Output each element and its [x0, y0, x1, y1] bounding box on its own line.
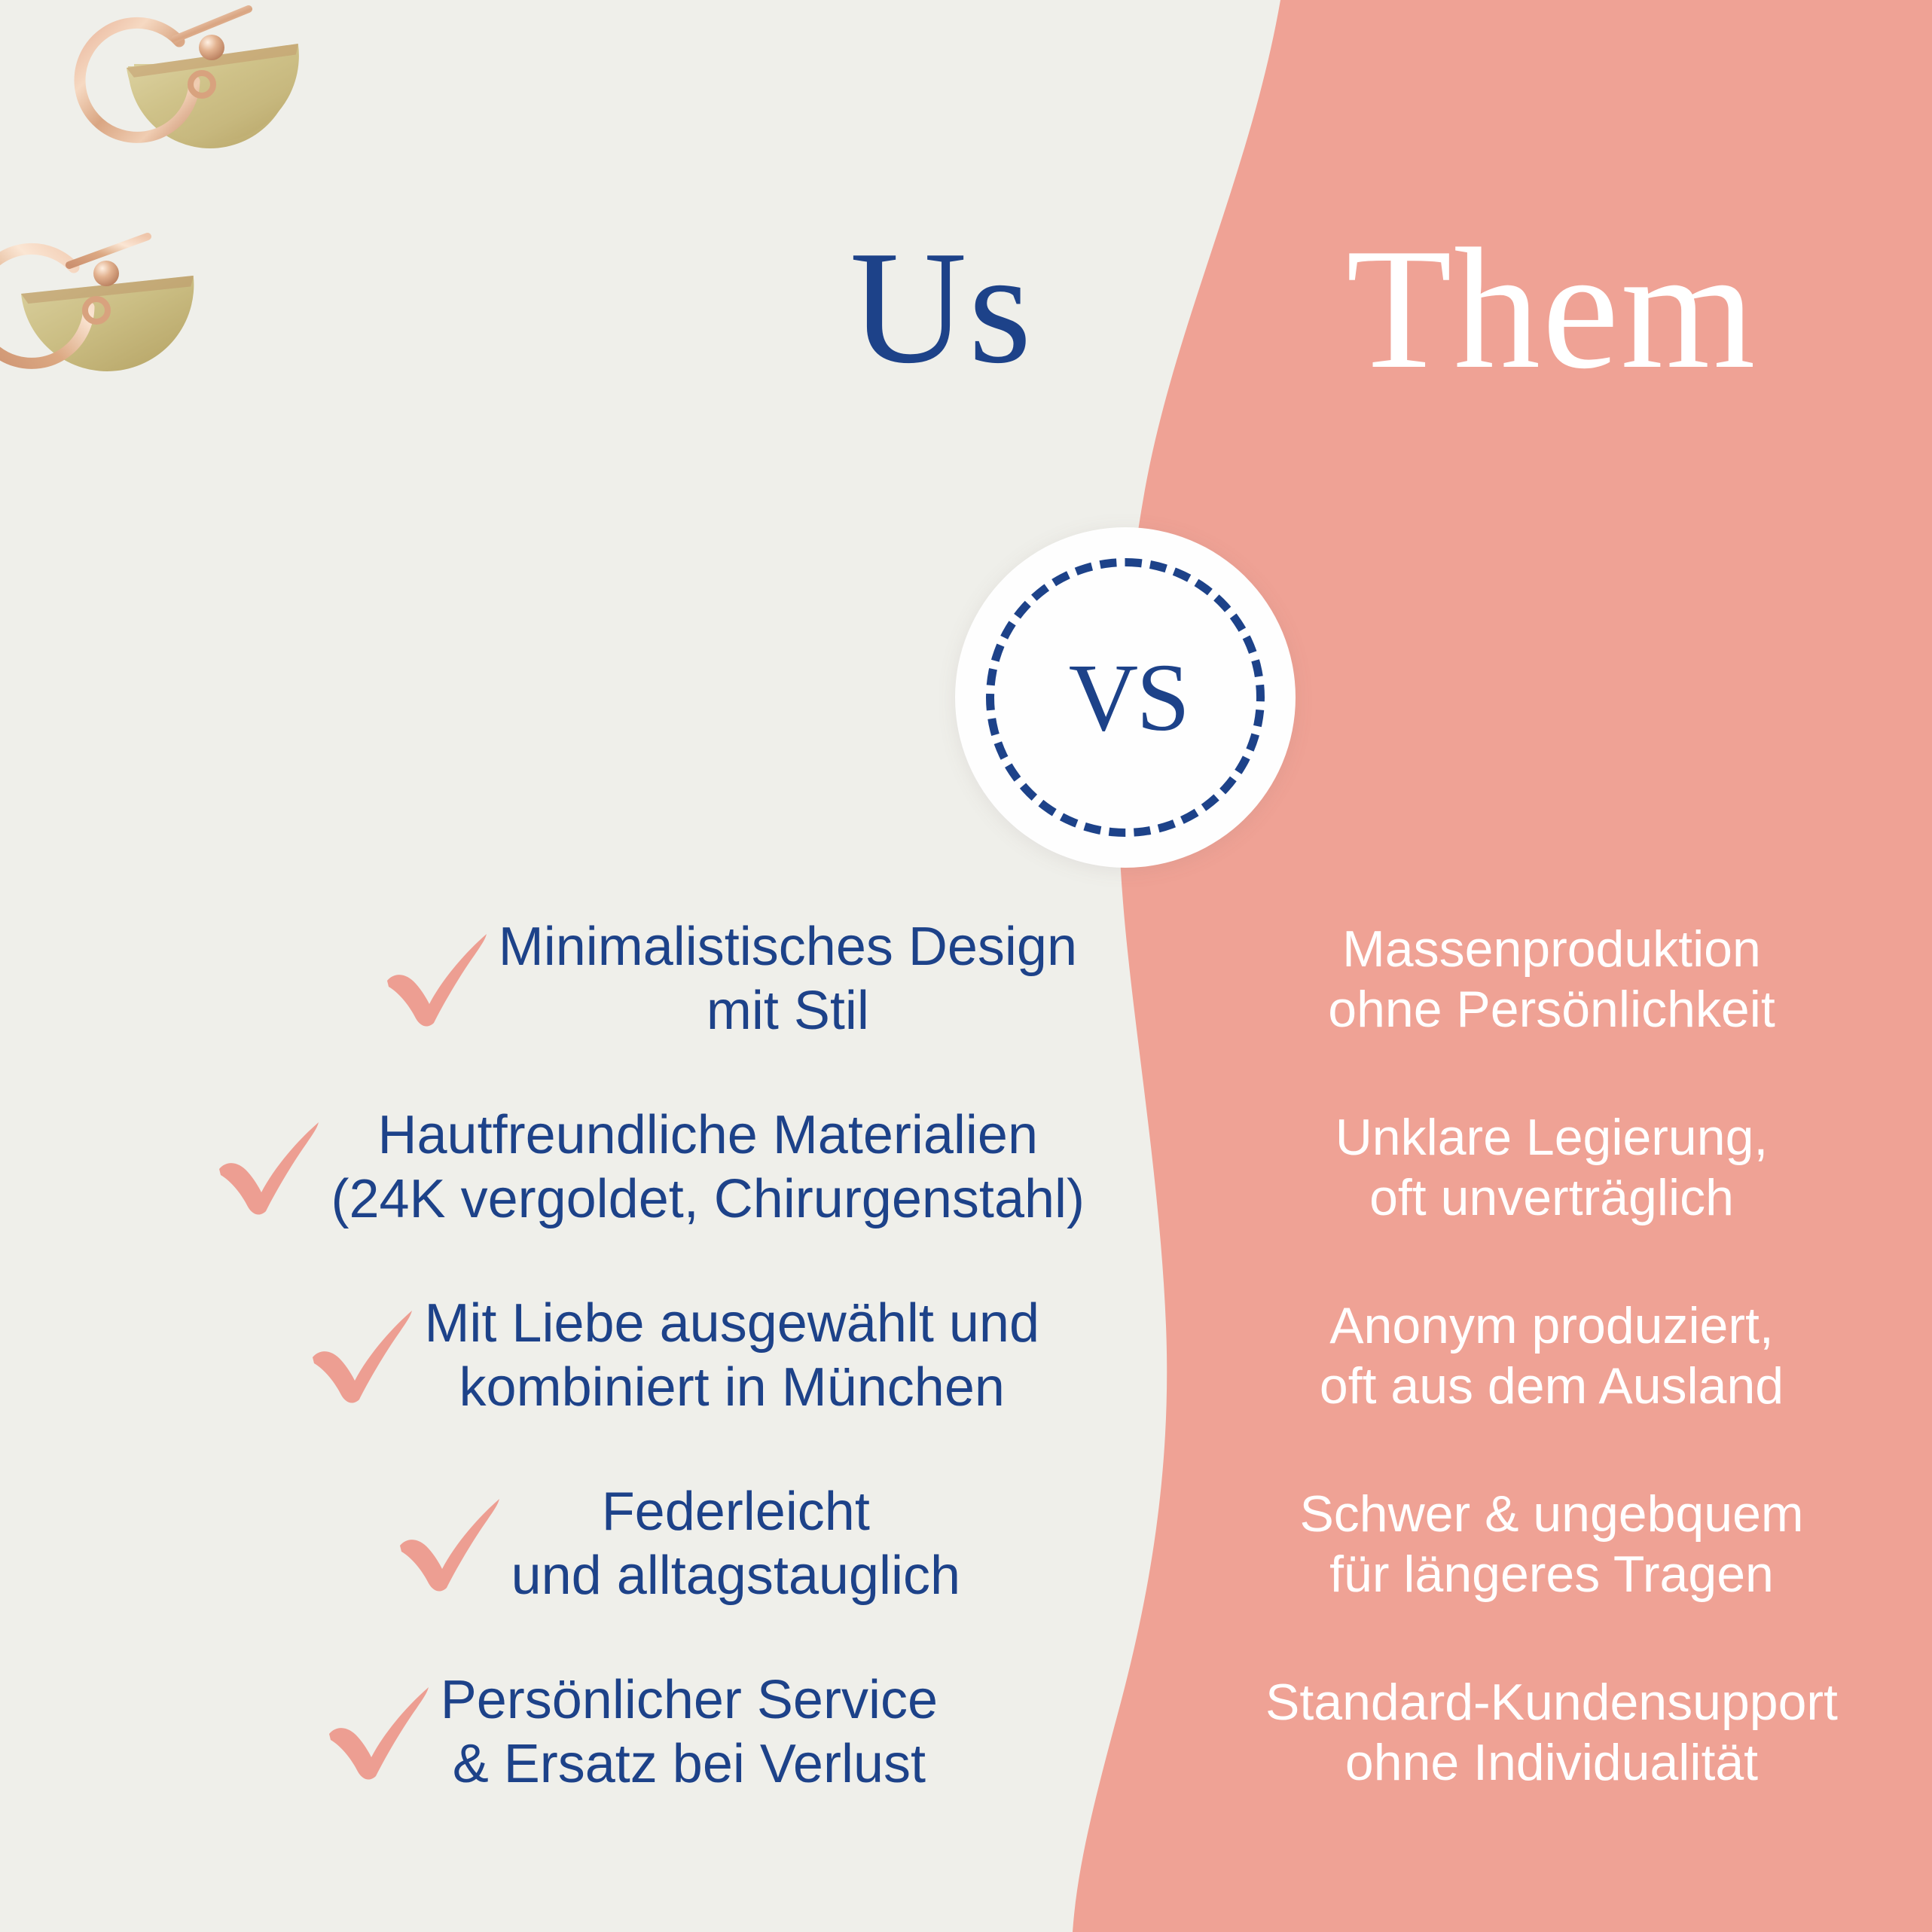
- check-icon: [381, 926, 494, 1032]
- hoop-ball-lower: [93, 261, 119, 286]
- check-icon: [323, 1680, 436, 1785]
- them-list-item: Unklare Legierung, oft unverträglich: [1175, 1073, 1928, 1262]
- us-list-item: Federleicht und alltagstauglich: [113, 1450, 1085, 1638]
- them-list-item-text: Massenproduktion ohne Persönlichkeit: [1328, 919, 1775, 1039]
- them-column: Massenproduktion ohne Persönlichkeit Unk…: [1175, 885, 1928, 1827]
- check-icon: [307, 1303, 420, 1409]
- us-list-item-text: Mit Liebe ausgewählt und kombiniert in M…: [424, 1292, 1039, 1420]
- us-list-item-text: Persönlicher Service & Ersatz bei Verlus…: [441, 1668, 938, 1796]
- check-icon: [394, 1491, 507, 1597]
- us-list-item-text: Hautfreundliche Materialien (24K vergold…: [331, 1103, 1085, 1232]
- earring-upper: [80, 9, 310, 154]
- us-list-item-text: Federleicht und alltagstauglich: [511, 1480, 960, 1608]
- us-list-item: Hautfreundliche Materialien (24K vergold…: [113, 1073, 1085, 1262]
- heading-them: Them: [1311, 222, 1793, 395]
- them-list-item-text: Standard-Kundensupport ohne Individualit…: [1265, 1672, 1838, 1793]
- them-list-item: Massenproduktion ohne Persönlichkeit: [1175, 885, 1928, 1073]
- us-list-item-text: Minimalistisches Design mit Stil: [499, 915, 1077, 1043]
- them-list-item-text: Unklare Legierung, oft unverträglich: [1335, 1107, 1769, 1228]
- product-photo-earrings: [0, 0, 761, 813]
- vs-label: VS: [955, 527, 1296, 868]
- them-list-item: Schwer & ungebquem für längeres Tragen: [1175, 1450, 1928, 1638]
- heading-us: Us: [813, 226, 1070, 388]
- us-column: Minimalistisches Design mit Stil Hautfre…: [113, 885, 1085, 1827]
- check-icon: [213, 1115, 326, 1220]
- us-list-item: Mit Liebe ausgewählt und kombiniert in M…: [113, 1262, 1085, 1450]
- them-list-item: Standard-Kundensupport ohne Individualit…: [1175, 1638, 1928, 1827]
- vs-badge: VS: [955, 527, 1296, 868]
- earring-lower: [0, 237, 203, 380]
- them-list-item-text: Anonym produziert, oft aus dem Ausland: [1320, 1296, 1784, 1416]
- them-list-item-text: Schwer & ungebquem für längeres Tragen: [1299, 1484, 1803, 1604]
- hoop-ball-upper: [199, 35, 224, 60]
- them-list-item: Anonym produziert, oft aus dem Ausland: [1175, 1262, 1928, 1450]
- comparison-infographic: Us Them VS Minimalistisches Design mit S…: [0, 0, 1932, 1932]
- us-list-item: Minimalistisches Design mit Stil: [113, 885, 1085, 1073]
- us-list-item: Persönlicher Service & Ersatz bei Verlus…: [113, 1638, 1085, 1827]
